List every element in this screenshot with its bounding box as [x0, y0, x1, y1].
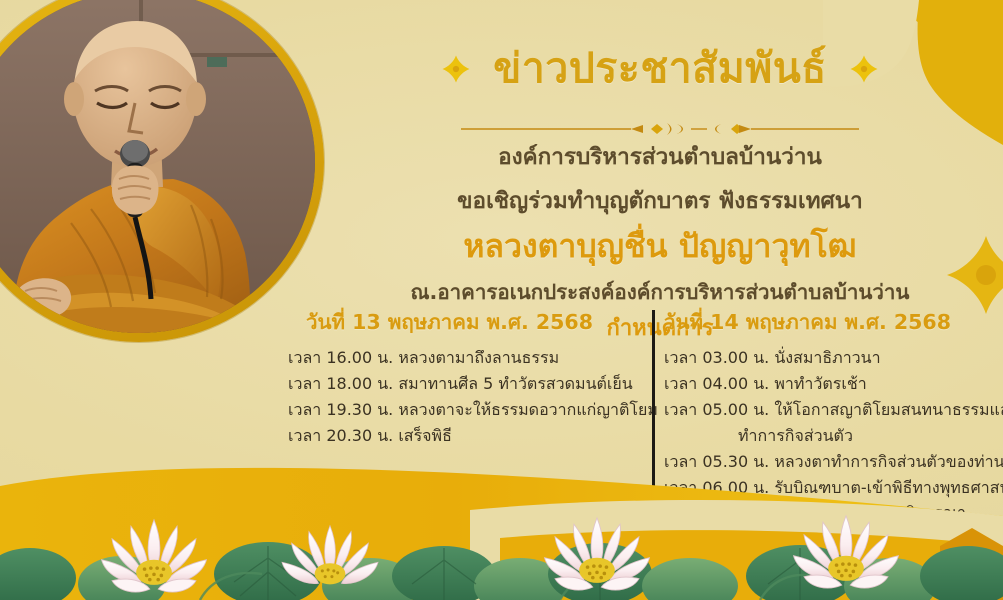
- organization-name: องค์การบริหารส่วนตำบลบ้านว่าน: [330, 141, 990, 174]
- date-heading-day1: วันที่ 13 พฤษภาคม พ.ศ. 2568: [288, 306, 634, 339]
- list-item: เวลา 18.00 น. สมาทานศีล 5 ทำวัตรสวดมนต์เ…: [288, 371, 634, 397]
- invitation-line: ขอเชิญร่วมทำบุญตักบาตร ฟังธรรมเทศนา: [330, 185, 990, 218]
- date-heading-day2: วันที่ 14 พฤษภาคม พ.ศ. 2568: [664, 306, 988, 339]
- list-item: เวลา 04.00 น. พาทำวัตรเช้า: [664, 371, 988, 397]
- list-item: เวลา 20.30 น. เสร็จพิธี: [288, 423, 634, 449]
- monk-portrait: [0, 0, 324, 342]
- list-item: เวลา 03.00 น. นั่งสมาธิภาวนา: [664, 345, 988, 371]
- page-title: ข่าวประชาสัมพันธ์: [493, 45, 827, 92]
- schedule-items-day1: เวลา 16.00 น. หลวงตามาถึงลานธรรม เวลา 18…: [288, 345, 634, 449]
- monk-name: หลวงตาบุญชื่น ปัญญาวุทโฒ: [330, 226, 990, 268]
- schedule-column-day1: วันที่ 13 พฤษภาคม พ.ศ. 2568 เวลา 16.00 น…: [288, 306, 648, 449]
- floret-ornament-right: [849, 54, 879, 84]
- lotus-decoration-band: [0, 450, 1003, 600]
- list-item-continuation: ทำการกิจส่วนตัว: [664, 423, 988, 449]
- list-item: เวลา 05.00 น. ให้โอกาสญาติโยมสนทนาธรรมแล…: [664, 397, 988, 423]
- header-block: ข่าวประชาสัมพันธ์ องค: [330, 18, 990, 343]
- floret-ornament-left: [441, 54, 471, 84]
- venue-line: ณ.อาคารอเนกประสงค์องค์การบริหารส่วนตำบลบ…: [330, 278, 990, 307]
- ornamental-divider: [445, 121, 875, 137]
- list-item: เวลา 19.30 น. หลวงตาจะให้ธรรมดอวากแก่ญาต…: [288, 397, 634, 423]
- list-item: เวลา 16.00 น. หลวงตามาถึงลานธรรม: [288, 345, 634, 371]
- poster-canvas: ข่าวประชาสัมพันธ์ องค: [0, 0, 1003, 600]
- title-row: ข่าวประชาสัมพันธ์: [330, 18, 990, 120]
